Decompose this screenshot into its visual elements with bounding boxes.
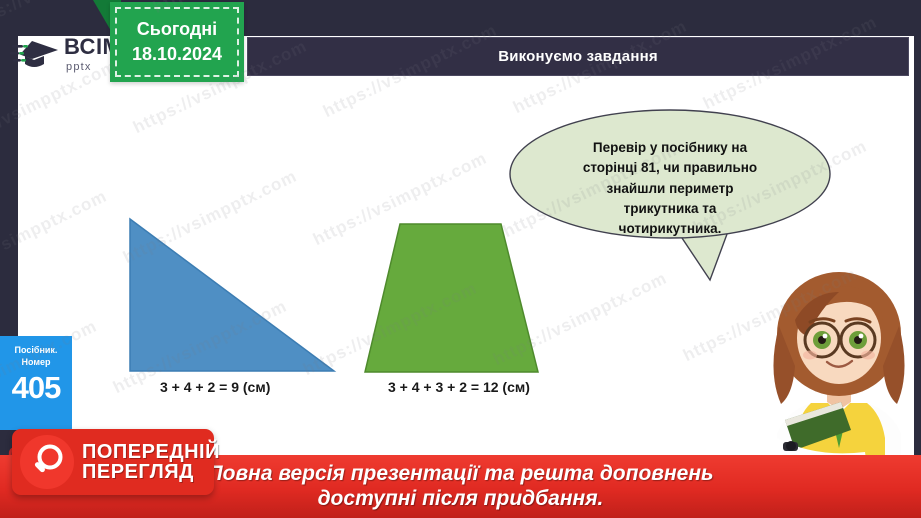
banner-line-1: Повна версія презентації та решта доповн… <box>208 462 714 487</box>
slide-root: 3 + 4 + 2 = 9 (см) 3 + 4 + 3 + 2 = 12 (с… <box>0 0 921 518</box>
exercise-number-badge: Посібник. Номер 405 <box>0 336 72 430</box>
date-value: 18.10.2024 <box>132 44 222 65</box>
watermark-text: https://vsimpptx.com <box>340 0 520 4</box>
bubble-line-3: знайшли периметр <box>545 179 795 199</box>
shape-triangle <box>127 213 337 375</box>
trapezoid-equation: 3 + 4 + 3 + 2 = 12 (см) <box>388 379 530 395</box>
speech-bubble: Перевір у посібнику на сторінці 81, чи п… <box>505 108 835 288</box>
exercise-label-line2: Номер <box>21 356 50 368</box>
header-bar: Виконуємо завдання <box>248 38 908 75</box>
teacher-character <box>755 262 920 467</box>
graduation-cap-icon <box>10 35 62 75</box>
page-title: Виконуємо завдання <box>498 48 658 65</box>
magnifier-icon <box>20 435 74 489</box>
preview-line-2: ПЕРЕГЛЯД <box>82 462 220 482</box>
bubble-line-5: чотирикутника. <box>545 219 795 239</box>
bubble-line-1: Перевір у посібнику на <box>545 138 795 158</box>
date-label: Сьогодні <box>137 19 217 40</box>
bubble-line-2: сторінці 81, чи правильно <box>545 158 795 178</box>
date-badge: Сьогодні 18.10.2024 <box>110 2 244 82</box>
preview-line-1: ПОПЕРЕДНІЙ <box>82 442 220 462</box>
exercise-label-line1: Посібник. <box>15 344 58 356</box>
preview-text: ПОПЕРЕДНІЙ ПЕРЕГЛЯД <box>82 442 220 483</box>
logo-subtitle: pptx <box>66 61 92 73</box>
banner-line-2: доступні після придбання. <box>318 487 604 512</box>
triangle-equation: 3 + 4 + 2 = 9 (см) <box>160 379 270 395</box>
speech-bubble-text: Перевір у посібнику на сторінці 81, чи п… <box>545 138 795 239</box>
bubble-line-4: трикутника та <box>545 199 795 219</box>
preview-badge[interactable]: ПОПЕРЕДНІЙ ПЕРЕГЛЯД <box>12 429 214 495</box>
exercise-number: 405 <box>12 370 61 406</box>
